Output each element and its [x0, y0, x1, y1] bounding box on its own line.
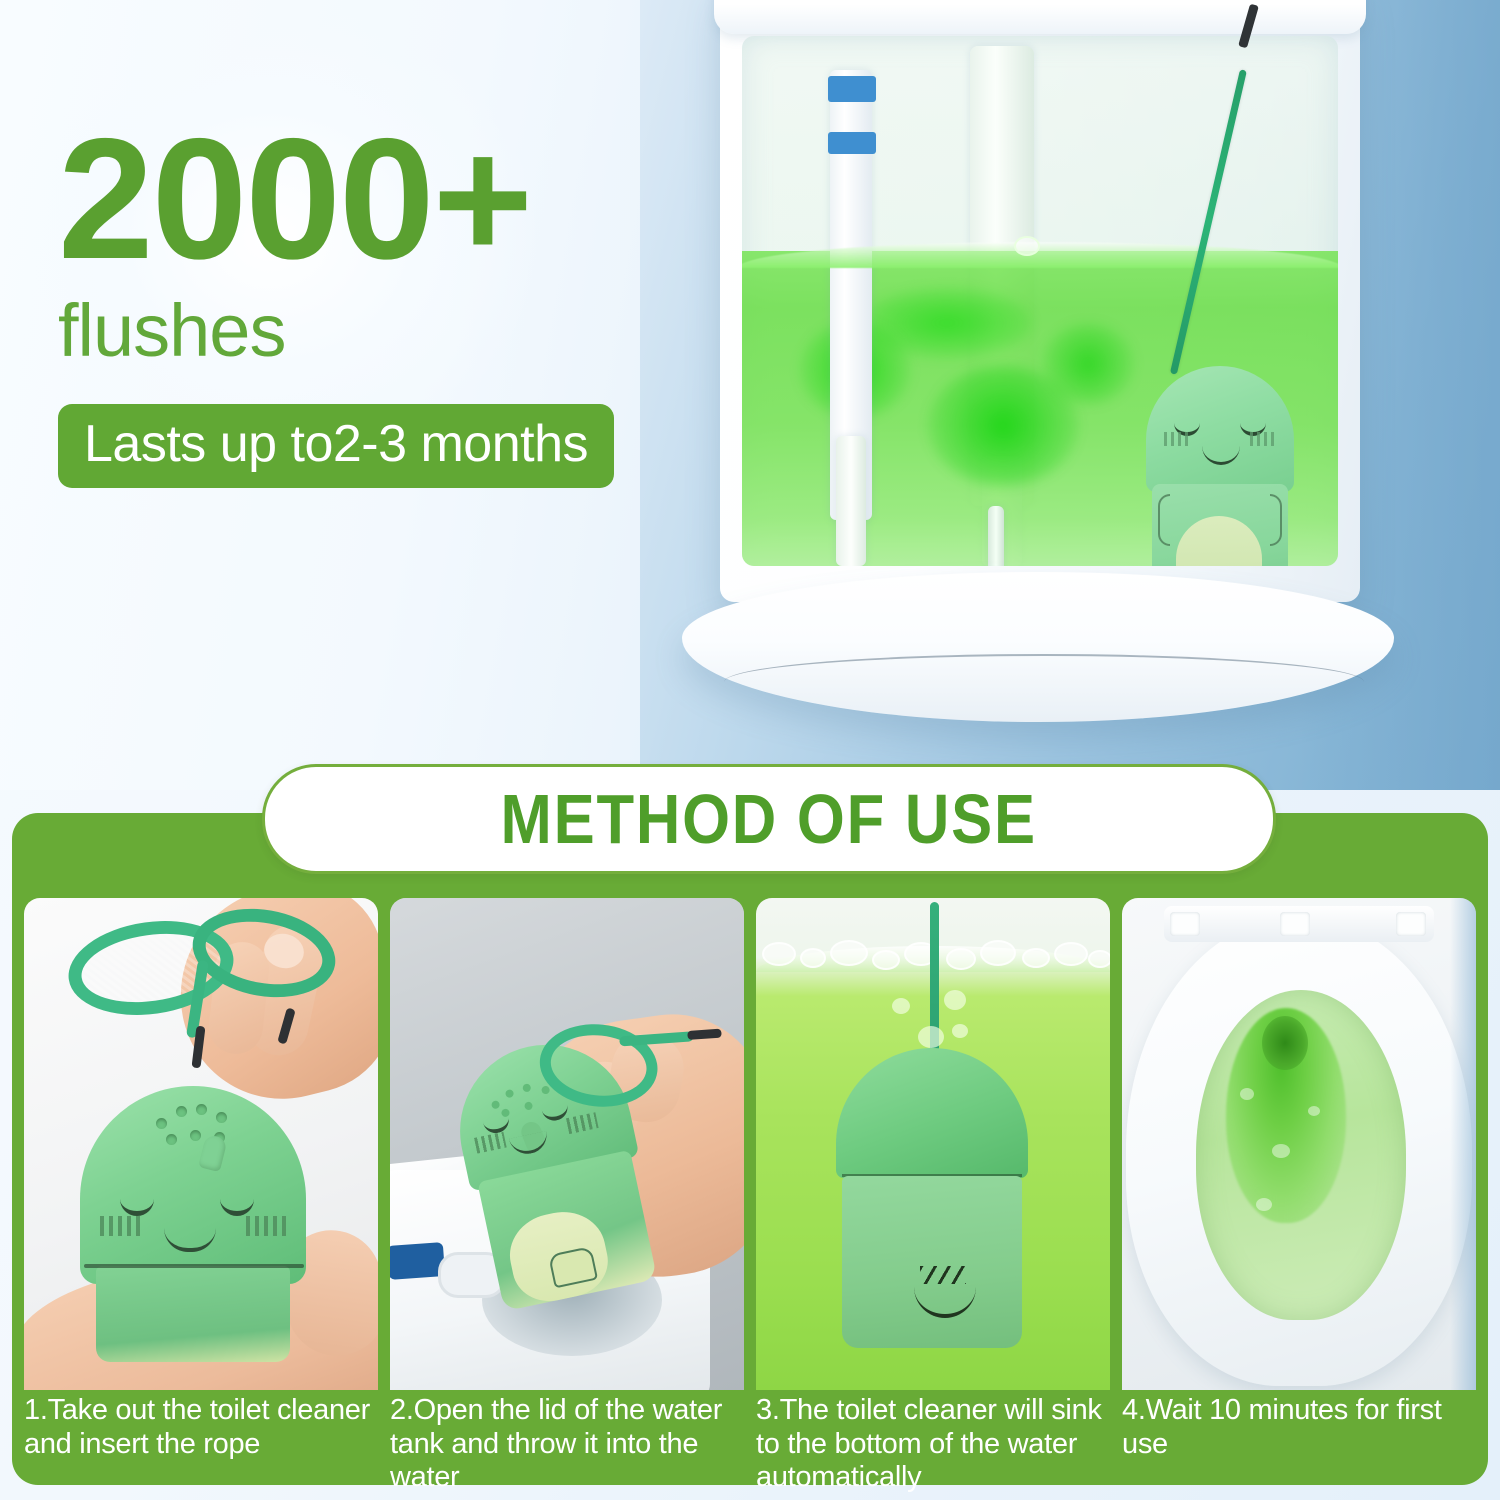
air-bubble-4 [952, 1024, 968, 1038]
dinosaur-capsule [836, 1048, 1028, 1348]
surface-bubble [1014, 236, 1040, 256]
capsule-blush-left [100, 1216, 140, 1236]
capsule-spikes [920, 1266, 966, 1284]
fizz-3 [1308, 1106, 1320, 1116]
step-caption-3: 3.The toilet cleaner will sink to the bo… [756, 1394, 1110, 1495]
air-bubble-1 [892, 998, 910, 1014]
product-infographic: 2000+ flushes Lasts up to2-3 months [0, 0, 1500, 1500]
capsule-seam [84, 1264, 304, 1268]
dinosaur-capsule [1146, 366, 1294, 566]
flush-unit-label: flushes [58, 294, 718, 368]
step-caption-1: 1.Take out the toilet cleaner and insert… [24, 1394, 378, 1495]
step-caption-4: 4.Wait 10 minutes for first use [1122, 1394, 1476, 1495]
flush-valve-stem [988, 506, 1004, 566]
step-caption-2: 2.Open the lid of the water tank and thr… [390, 1394, 744, 1495]
valve-blue-band-top [828, 76, 876, 102]
air-bubble-2 [944, 990, 966, 1010]
seat-hinge [1164, 906, 1434, 942]
fizz-4 [1256, 1198, 1272, 1211]
capsule-head [1146, 366, 1294, 492]
capsule-blush-right [1250, 432, 1276, 446]
step-image-2 [390, 898, 744, 1390]
valve-blue-band-bottom [828, 132, 876, 154]
method-title: METHOD OF USE [501, 779, 1037, 859]
toilet-bowl-rim [682, 572, 1394, 722]
capsule-body [842, 1176, 1022, 1348]
fizz-2 [1272, 1144, 1290, 1158]
step-image-1 [24, 898, 378, 1390]
step-caption-row: 1.Take out the toilet cleaner and insert… [24, 1394, 1476, 1495]
fizz-1 [1240, 1088, 1254, 1100]
capsule-arm-right [1270, 494, 1282, 546]
air-bubble-3 [918, 1026, 944, 1048]
capsule-blush-right [246, 1216, 286, 1236]
capsule-blush-right [566, 1112, 599, 1134]
capsule-mouth [1202, 446, 1240, 465]
hero-section: 2000+ flushes Lasts up to2-3 months [0, 0, 1500, 790]
panel-edge-shadow [1450, 898, 1476, 1390]
headline-block: 2000+ flushes Lasts up to2-3 months [58, 120, 718, 488]
fill-valve-tube-lower [836, 436, 866, 566]
method-title-pill: METHOD OF USE [262, 764, 1276, 874]
capsule-arm-left [1158, 494, 1170, 546]
capsule-base-art [96, 1266, 290, 1362]
tank-lid [714, 0, 1366, 34]
toilet-tank-illustration [690, 0, 1410, 742]
dye-plume-3 [1042, 324, 1134, 404]
flush-count: 2000+ [58, 120, 718, 278]
step-image-4 [1122, 898, 1476, 1390]
tank-transparent-window [742, 36, 1338, 566]
flush-button-blue [390, 1242, 445, 1280]
step-image-3 [756, 898, 1110, 1390]
capsule-blush-left [1164, 432, 1190, 446]
capsule-head [836, 1048, 1028, 1178]
water-vortex [1262, 1016, 1308, 1070]
capsule-mouth [509, 1131, 550, 1157]
step-image-row [24, 898, 1476, 1390]
duration-badge: Lasts up to2-3 months [58, 404, 614, 488]
capsule-blush-left [474, 1132, 507, 1154]
